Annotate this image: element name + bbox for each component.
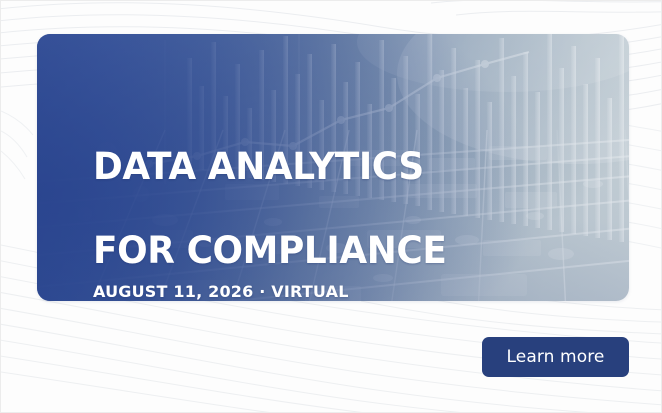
event-promo-card[interactable]: DATA ANALYTICS FOR COMPLIANCE PROGRAMS A…: [37, 34, 629, 301]
headline-line-2: FOR COMPLIANCE: [93, 230, 446, 272]
card-content: DATA ANALYTICS FOR COMPLIANCE PROGRAMS A…: [65, 34, 629, 301]
headline-line-1: DATA ANALYTICS: [93, 146, 446, 188]
promo-banner: DATA ANALYTICS FOR COMPLIANCE PROGRAMS A…: [0, 0, 662, 413]
page-title: DATA ANALYTICS FOR COMPLIANCE PROGRAMS: [93, 104, 446, 301]
learn-more-button[interactable]: Learn more: [482, 337, 629, 377]
event-date-format: AUGUST 11, 2026 · VIRTUAL: [93, 282, 349, 301]
